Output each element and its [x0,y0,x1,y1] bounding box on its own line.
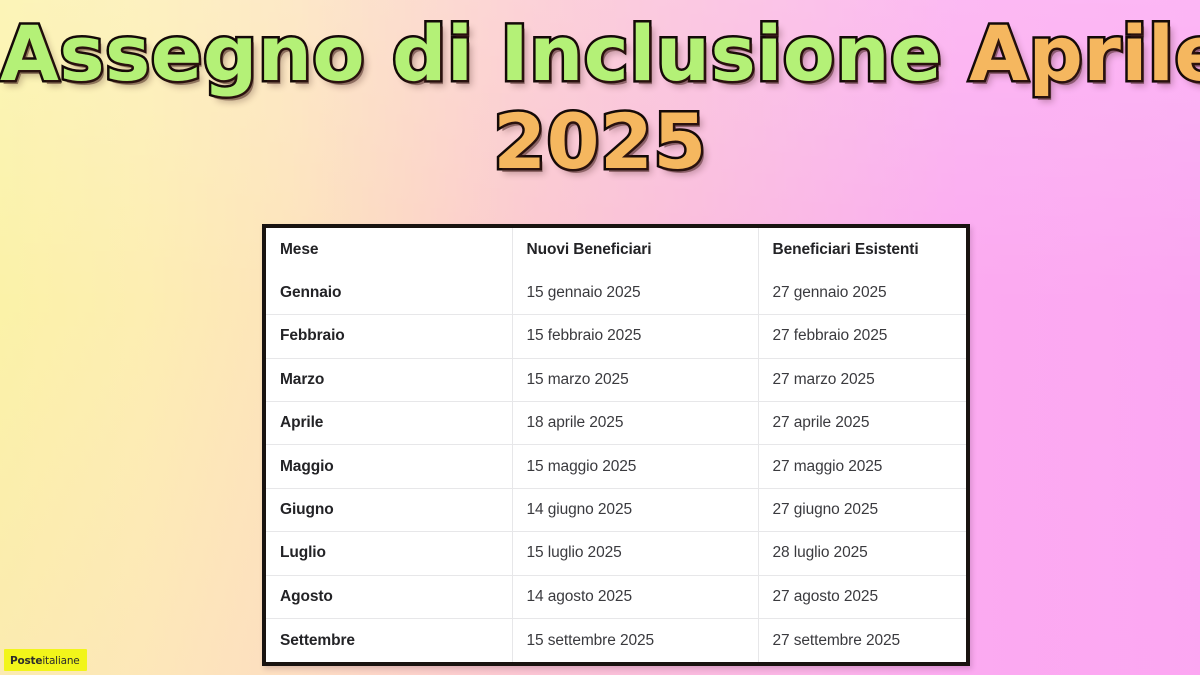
column-header-mese: Mese [266,228,512,271]
table-row: Aprile 18 aprile 2025 27 aprile 2025 [266,402,966,445]
title-text-year: 2025 [493,97,707,186]
cell-existing-beneficiaries-date: 28 luglio 2025 [758,532,966,575]
table-header-row: Mese Nuovi Beneficiari Beneficiari Esist… [266,228,966,271]
cell-new-beneficiaries-date: 15 luglio 2025 [512,532,758,575]
title-text-orange-month: Aprile [969,9,1200,98]
cell-existing-beneficiaries-date: 27 marzo 2025 [758,358,966,401]
cell-existing-beneficiaries-date: 27 agosto 2025 [758,575,966,618]
cell-existing-beneficiaries-date: 27 settembre 2025 [758,619,966,662]
cell-month: Agosto [266,575,512,618]
cell-new-beneficiaries-date: 15 marzo 2025 [512,358,758,401]
table-row: Febbraio 15 febbraio 2025 27 febbraio 20… [266,315,966,358]
cell-new-beneficiaries-date: 15 gennaio 2025 [512,271,758,314]
cell-month: Marzo [266,358,512,401]
cell-month: Gennaio [266,271,512,314]
title-line-second: 2025 [0,97,1200,187]
watermark-light-part: italiane [42,655,79,667]
title-text-green: Assegno di Inclusione [0,9,942,98]
poster-canvas: Assegno di Inclusione Aprile 2025 Mese N… [0,0,1200,675]
table-row: Luglio 15 luglio 2025 28 luglio 2025 [266,532,966,575]
table-body: Gennaio 15 gennaio 2025 27 gennaio 2025 … [266,271,966,662]
payment-schedule-card: Mese Nuovi Beneficiari Beneficiari Esist… [262,224,970,666]
title-text-month [942,9,969,98]
cell-month: Luglio [266,532,512,575]
poste-italiane-watermark: Posteitaliane [4,649,87,671]
watermark-bold-part: Poste [10,655,42,667]
watermark-text: Posteitaliane [10,655,80,667]
table-row: Marzo 15 marzo 2025 27 marzo 2025 [266,358,966,401]
cell-month: Febbraio [266,315,512,358]
cell-month: Maggio [266,445,512,488]
cell-existing-beneficiaries-date: 27 gennaio 2025 [758,271,966,314]
cell-new-beneficiaries-date: 18 aprile 2025 [512,402,758,445]
cell-existing-beneficiaries-date: 27 giugno 2025 [758,488,966,531]
table-row: Agosto 14 agosto 2025 27 agosto 2025 [266,575,966,618]
table-header: Mese Nuovi Beneficiari Beneficiari Esist… [266,228,966,271]
cell-new-beneficiaries-date: 15 settembre 2025 [512,619,758,662]
table-row: Giugno 14 giugno 2025 27 giugno 2025 [266,488,966,531]
cell-existing-beneficiaries-date: 27 maggio 2025 [758,445,966,488]
payment-schedule-table: Mese Nuovi Beneficiari Beneficiari Esist… [266,228,966,662]
cell-new-beneficiaries-date: 15 febbraio 2025 [512,315,758,358]
cell-month: Settembre [266,619,512,662]
cell-existing-beneficiaries-date: 27 aprile 2025 [758,402,966,445]
cell-new-beneficiaries-date: 15 maggio 2025 [512,445,758,488]
cell-new-beneficiaries-date: 14 agosto 2025 [512,575,758,618]
cell-month: Giugno [266,488,512,531]
poster-title: Assegno di Inclusione Aprile 2025 [0,8,1200,186]
cell-new-beneficiaries-date: 14 giugno 2025 [512,488,758,531]
table-row: Maggio 15 maggio 2025 27 maggio 2025 [266,445,966,488]
column-header-beneficiari-esistenti: Beneficiari Esistenti [758,228,966,271]
cell-existing-beneficiaries-date: 27 febbraio 2025 [758,315,966,358]
table-row: Gennaio 15 gennaio 2025 27 gennaio 2025 [266,271,966,314]
column-header-nuovi-beneficiari: Nuovi Beneficiari [512,228,758,271]
title-line-first: Assegno di Inclusione Aprile [0,8,1200,101]
cell-month: Aprile [266,402,512,445]
table-row: Settembre 15 settembre 2025 27 settembre… [266,619,966,662]
